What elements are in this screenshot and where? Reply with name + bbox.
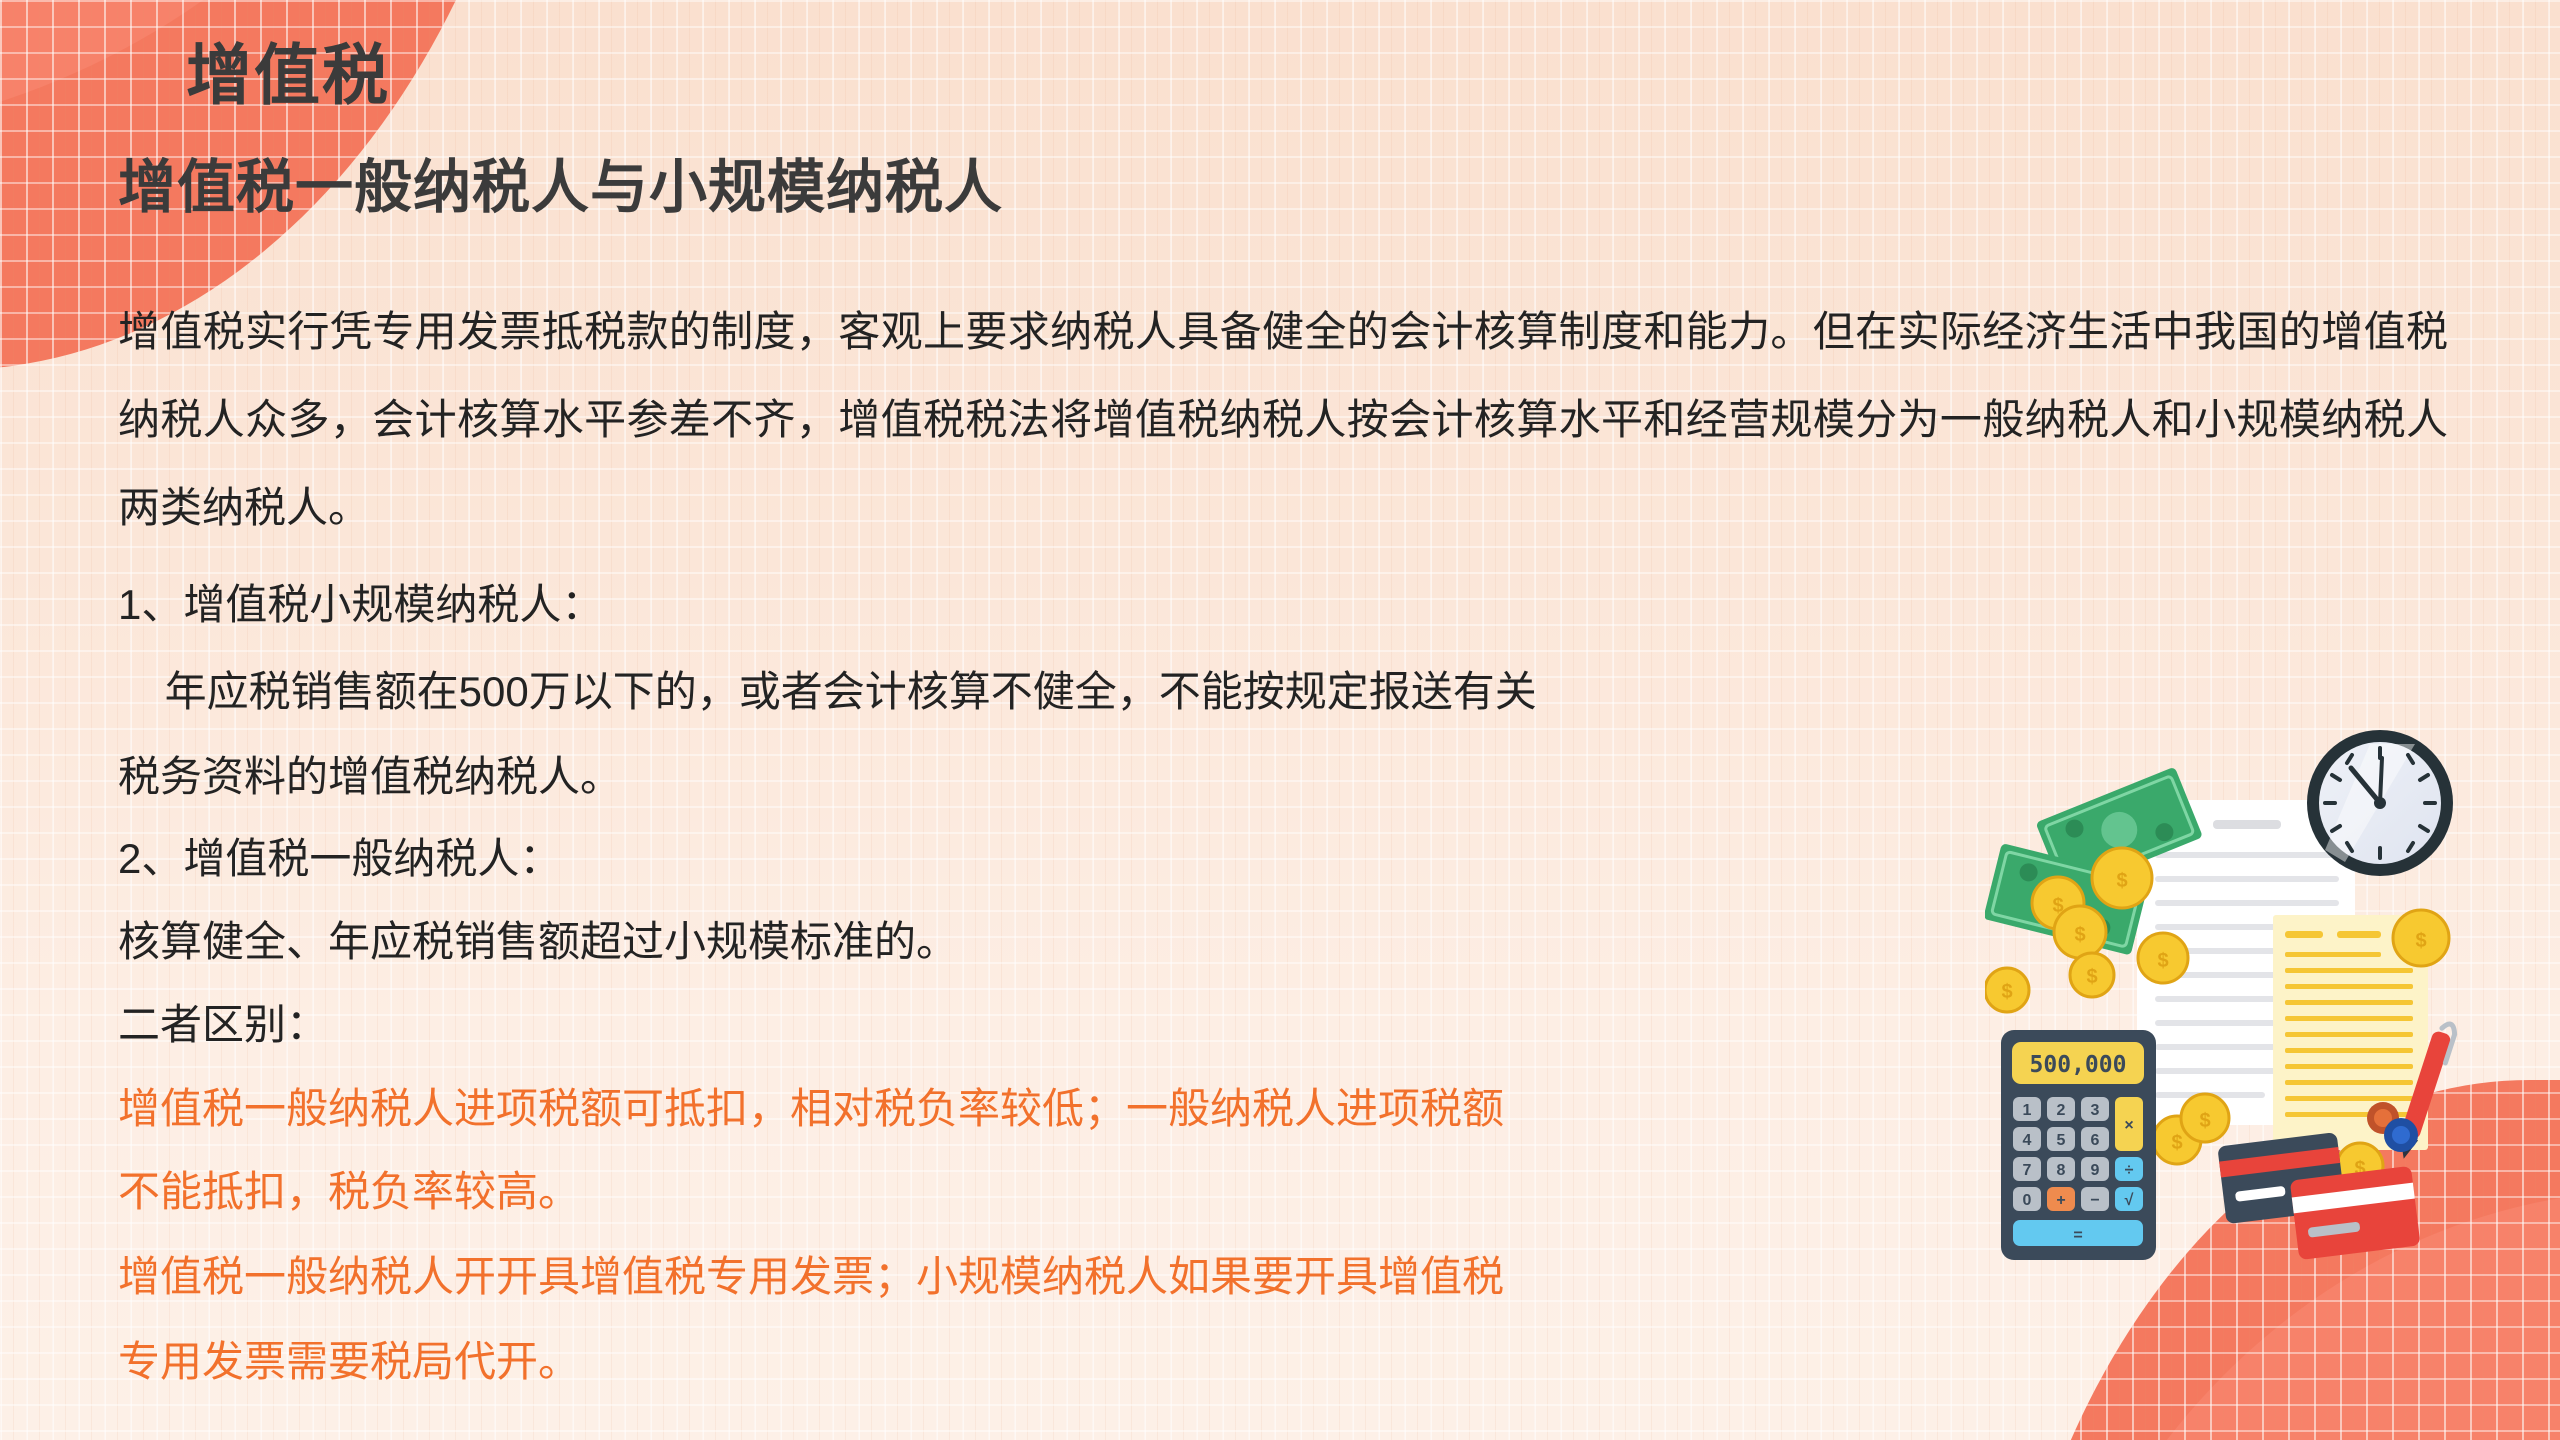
- bank-card-red-icon: [2290, 1166, 2421, 1260]
- svg-text:$: $: [2171, 1132, 2182, 1154]
- section-1-line-2: 税务资料的增值税纳税人。: [118, 740, 622, 814]
- section-2-heading: 2、增值税一般纳税人：: [118, 822, 561, 896]
- svg-text:4: 4: [2023, 1132, 2032, 1149]
- difference-line-2: 不能抵扣，税负率较高。: [118, 1155, 580, 1229]
- section-2-line-1: 核算健全、年应税销售额超过小规模标准的。: [118, 905, 958, 979]
- difference-line-4: 专用发票需要税局代开。: [118, 1325, 580, 1399]
- svg-text:$: $: [2074, 924, 2085, 946]
- intro-paragraph: 增值税实行凭专用发票抵税款的制度，客观上要求纳税人具备健全的会计核算制度和能力。…: [118, 288, 2448, 552]
- svg-text:$: $: [2116, 870, 2127, 892]
- svg-text:1: 1: [2023, 1102, 2032, 1119]
- difference-line-3: 增值税一般纳税人开开具增值税专用发票；小规模纳税人如果要开具增值税: [118, 1240, 1504, 1314]
- svg-text:2: 2: [2057, 1102, 2066, 1119]
- svg-text:$: $: [2157, 950, 2168, 972]
- svg-text:6: 6: [2091, 1132, 2100, 1149]
- svg-text:$: $: [2052, 895, 2063, 917]
- calculator-display: 500,000: [2030, 1052, 2127, 1078]
- svg-text:0: 0: [2023, 1192, 2032, 1209]
- svg-text:$: $: [2086, 966, 2097, 988]
- difference-heading: 二者区别：: [118, 988, 328, 1062]
- section-1-line-1: 年应税销售额在500万以下的，或者会计核算不健全，不能按规定报送有关: [118, 655, 1537, 729]
- page-title: 增值税: [186, 22, 390, 118]
- svg-text:$: $: [2199, 1110, 2210, 1132]
- svg-text:3: 3: [2091, 1102, 2100, 1119]
- svg-text:=: =: [2073, 1227, 2082, 1244]
- wall-clock-icon: [2307, 730, 2453, 876]
- svg-text:−: −: [2090, 1192, 2099, 1209]
- svg-text:√: √: [2125, 1192, 2134, 1209]
- finance-illustration: $$ $$ $$ $$ $$: [1985, 700, 2560, 1320]
- calculator-icon: 500,000 123 456 789: [2001, 1030, 2156, 1260]
- svg-text:5: 5: [2057, 1132, 2066, 1149]
- svg-text:8: 8: [2057, 1162, 2066, 1179]
- slide-canvas: 增值税 增值税一般纳税人与小规模纳税人 增值税实行凭专用发票抵税款的制度，客观上…: [0, 0, 2560, 1440]
- page-subtitle: 增值税一般纳税人与小规模纳税人: [118, 140, 1003, 224]
- svg-text:9: 9: [2091, 1162, 2100, 1179]
- section-1-heading: 1、增值税小规模纳税人：: [118, 568, 603, 642]
- svg-text:+: +: [2056, 1192, 2065, 1209]
- svg-text:$: $: [2001, 981, 2012, 1003]
- svg-text:÷: ÷: [2125, 1162, 2134, 1179]
- svg-text:7: 7: [2023, 1162, 2032, 1179]
- svg-text:×: ×: [2124, 1117, 2133, 1134]
- svg-text:$: $: [2415, 930, 2426, 952]
- difference-line-1: 增值税一般纳税人进项税额可抵扣，相对税负率较低；一般纳税人进项税额: [118, 1072, 1504, 1146]
